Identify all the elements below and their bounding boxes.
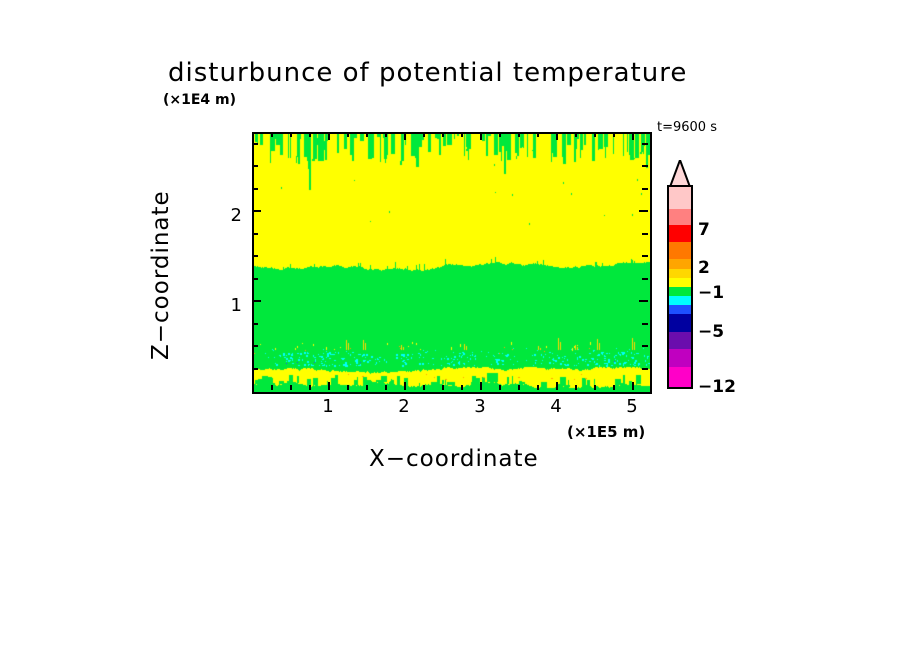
y-minor-tick xyxy=(252,368,258,370)
x-minor-tick xyxy=(290,385,292,390)
x-top-tick xyxy=(461,132,463,137)
x-minor-tick xyxy=(366,385,368,390)
x-major-tick xyxy=(328,382,330,390)
colorbar-band xyxy=(669,367,691,387)
x-axis-title: X−coordinate xyxy=(369,446,539,472)
colorbar-band xyxy=(669,296,691,305)
x-top-tick xyxy=(366,132,368,137)
x-minor-tick xyxy=(499,385,501,390)
colorbar-band xyxy=(669,225,691,242)
x-top-tick xyxy=(290,132,292,137)
colorbar-band xyxy=(669,269,691,278)
x-top-tick xyxy=(594,132,596,137)
colorbar-arrow-icon xyxy=(667,160,693,187)
x-top-tick xyxy=(556,132,558,140)
y-right-tick xyxy=(642,143,648,145)
y-minor-tick xyxy=(252,188,258,190)
x-minor-tick xyxy=(309,385,311,390)
y-right-tick xyxy=(639,210,648,212)
x-minor-tick xyxy=(613,385,615,390)
y-major-tick xyxy=(252,210,261,212)
x-minor-tick xyxy=(594,385,596,390)
x-top-tick xyxy=(271,132,273,137)
x-minor-tick xyxy=(423,385,425,390)
y-right-tick xyxy=(642,165,648,167)
y-minor-tick xyxy=(252,165,258,167)
x-tick-label: 2 xyxy=(394,396,414,417)
colorbar-tick-label: −1 xyxy=(698,283,724,303)
colorbar-tick-label: 7 xyxy=(698,220,710,240)
colorbar-band xyxy=(669,349,691,367)
colorbar-band xyxy=(669,242,691,259)
colorbar-band xyxy=(669,187,691,209)
contour-plot-area xyxy=(252,132,652,394)
x-top-tick xyxy=(328,132,330,140)
time-annotation: t=9600 s xyxy=(657,120,717,135)
colorbar-tick-label: 2 xyxy=(698,258,710,278)
x-major-tick xyxy=(480,382,482,390)
x-minor-tick xyxy=(461,385,463,390)
x-major-tick xyxy=(404,382,406,390)
y-tick-label: 2 xyxy=(218,205,242,226)
x-top-tick xyxy=(613,132,615,137)
x-top-tick xyxy=(518,132,520,137)
y-right-tick xyxy=(642,233,648,235)
contour-field xyxy=(254,134,650,392)
x-minor-tick xyxy=(537,385,539,390)
colorbar-band xyxy=(669,209,691,225)
y-minor-tick xyxy=(252,345,258,347)
x-tick-label: 3 xyxy=(470,396,490,417)
x-top-tick xyxy=(499,132,501,137)
x-minor-tick xyxy=(518,385,520,390)
colorbar-band xyxy=(669,332,691,349)
x-top-tick xyxy=(423,132,425,137)
x-top-tick xyxy=(385,132,387,137)
x-top-tick xyxy=(537,132,539,137)
y-minor-tick xyxy=(252,233,258,235)
x-minor-tick xyxy=(347,385,349,390)
y-minor-tick xyxy=(252,278,258,280)
x-tick-label: 4 xyxy=(546,396,566,417)
colorbar-band xyxy=(669,259,691,269)
colorbar-tick-label: −5 xyxy=(698,322,724,342)
x-minor-tick xyxy=(575,385,577,390)
y-minor-tick xyxy=(252,143,258,145)
z-unit-label: (×1E4 m) xyxy=(163,92,236,108)
y-right-tick xyxy=(642,368,648,370)
colorbar-legend xyxy=(667,185,693,389)
x-top-tick xyxy=(575,132,577,137)
y-minor-tick xyxy=(252,323,258,325)
y-right-tick xyxy=(642,323,648,325)
x-major-tick xyxy=(556,382,558,390)
x-top-tick xyxy=(442,132,444,137)
x-tick-label: 1 xyxy=(318,396,338,417)
colorbar-band xyxy=(669,278,691,287)
colorbar-band xyxy=(669,314,691,332)
y-right-tick xyxy=(642,278,648,280)
x-top-tick xyxy=(309,132,311,137)
y-tick-label: 1 xyxy=(218,295,242,316)
x-top-tick xyxy=(404,132,406,140)
page-title: disturbunce of potential temperature xyxy=(168,58,748,88)
x-minor-tick xyxy=(385,385,387,390)
x-major-tick xyxy=(632,382,634,390)
colorbar-tick-label: −12 xyxy=(698,377,736,397)
x-minor-tick xyxy=(442,385,444,390)
y-minor-tick xyxy=(252,255,258,257)
x-top-tick xyxy=(480,132,482,140)
colorbar-band xyxy=(669,305,691,314)
x-top-tick xyxy=(632,132,634,140)
y-right-tick xyxy=(642,255,648,257)
x-minor-tick xyxy=(271,385,273,390)
x-top-tick xyxy=(347,132,349,137)
y-right-tick xyxy=(642,188,648,190)
x-tick-label: 5 xyxy=(622,396,642,417)
y-axis-title: Z−coordinate xyxy=(148,170,174,360)
figure-canvas: disturbunce of potential temperature (×1… xyxy=(0,0,904,654)
colorbar-band xyxy=(669,287,691,296)
y-right-tick xyxy=(642,345,648,347)
x-unit-label: (×1E5 m) xyxy=(567,423,645,441)
y-right-tick xyxy=(639,300,648,302)
y-major-tick xyxy=(252,300,261,302)
